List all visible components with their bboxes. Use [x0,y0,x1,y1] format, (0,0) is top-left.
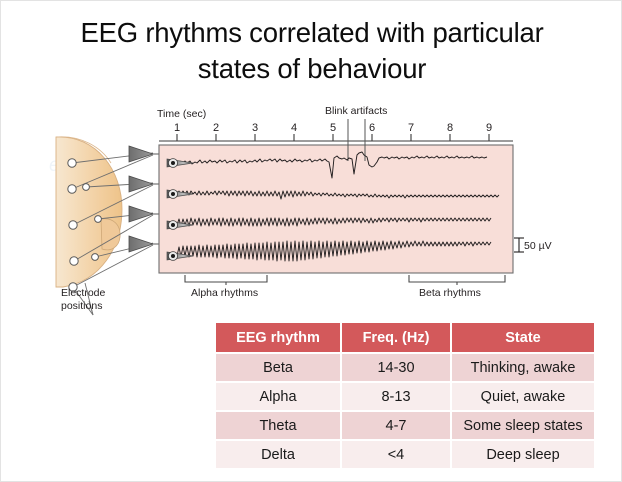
time-axis-label: Time (sec) [157,108,206,120]
slide-canvas: EEG rhythms correlated with particular s… [0,0,622,482]
table-header-rhythm: EEG rhythm [216,323,341,353]
cell-rhythm: Alpha [216,382,341,411]
cell-state: Deep sleep [451,440,594,468]
table-row: Beta 14-30 Thinking, awake [216,353,594,382]
cell-state: Some sleep states [451,411,594,440]
electrode-positions-label: Electrode positions [61,287,105,313]
alpha-rhythms-label: Alpha rhythms [191,287,258,299]
cell-freq: 14-30 [341,353,451,382]
beta-bracket [409,275,505,285]
svg-text:1: 1 [174,122,180,134]
page-title: EEG rhythms correlated with particular s… [15,15,609,87]
blink-artifacts-label: Blink artifacts [325,105,387,117]
beta-rhythms-label: Beta rhythms [419,287,481,299]
cell-freq: 8-13 [341,382,451,411]
svg-text:6: 6 [369,122,375,134]
cell-freq: 4-7 [341,411,451,440]
table-header-freq: Freq. (Hz) [341,323,451,353]
cell-state: Quiet, awake [451,382,594,411]
head-profile-illustration [56,137,122,287]
table-row: Delta <4 Deep sleep [216,440,594,468]
table-row: Theta 4-7 Some sleep states [216,411,594,440]
alpha-bracket [185,275,267,285]
time-axis: 1 2 3 4 5 6 7 8 9 [159,122,513,141]
svg-text:8: 8 [447,122,453,134]
table-row: Alpha 8-13 Quiet, awake [216,382,594,411]
page-title-line-1: EEG rhythms correlated with particular [80,17,543,48]
amplitude-scale-bar [514,238,524,252]
amplitude-scale-label: 50 µV [524,240,552,252]
cell-rhythm: Delta [216,440,341,468]
table-header-state: State [451,323,594,353]
svg-text:7: 7 [408,122,414,134]
eeg-rhythm-table: EEG rhythm Freq. (Hz) State Beta 14-30 T… [216,323,594,468]
electrode-positions-label-line-2: positions [61,300,102,312]
svg-text:5: 5 [330,122,336,134]
cell-rhythm: Beta [216,353,341,382]
rhythm-brackets [185,275,505,285]
cell-rhythm: Theta [216,411,341,440]
table-header-row: EEG rhythm Freq. (Hz) State [216,323,594,353]
page-title-line-2: states of behaviour [198,53,427,84]
electrode-positions-label-line-1: Electrode [61,287,105,299]
cell-state: Thinking, awake [451,353,594,382]
cell-freq: <4 [341,440,451,468]
svg-text:9: 9 [486,122,492,134]
svg-text:3: 3 [252,122,258,134]
svg-text:4: 4 [291,122,297,134]
time-tick-labels: 1 2 3 4 5 6 7 8 9 [174,122,492,134]
eeg-figure: eSlide [1,101,622,323]
svg-text:2: 2 [213,122,219,134]
